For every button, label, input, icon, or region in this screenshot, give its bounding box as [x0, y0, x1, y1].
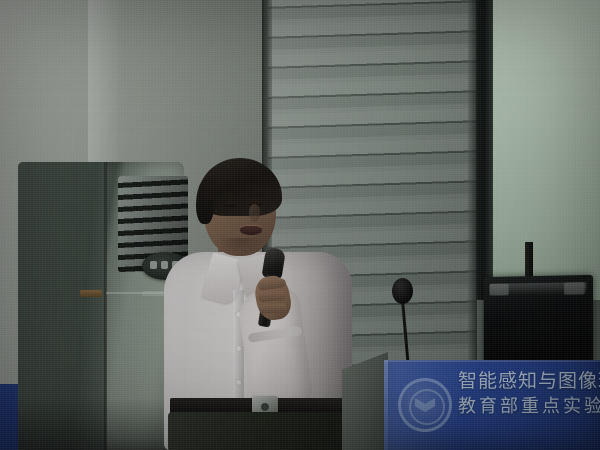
mouth-open-speaking: [240, 226, 262, 235]
banner-line-2: 教育部重点实验: [458, 394, 600, 419]
hair-sideburn: [196, 178, 214, 224]
eyebrow-right: [248, 193, 265, 197]
university-seal-emblem-icon: [398, 378, 452, 432]
monitor-screen: [484, 275, 593, 365]
microphone-gooseneck-stem: [401, 300, 410, 364]
monitor-bezel-segment: [489, 283, 508, 295]
shirt-button: [236, 346, 241, 351]
shirt-button: [236, 380, 241, 385]
right-wall: [492, 0, 600, 300]
ac-panel-indicator: [150, 261, 157, 269]
podium-banner-text: 智能感知与图像理 教育部重点实验: [458, 368, 600, 419]
slat-panel-right-edge: [468, 0, 477, 368]
eye-left: [223, 202, 237, 207]
podium-front-panel: 智能感知与图像理 教育部重点实验: [384, 360, 600, 450]
banner-line-1: 智能感知与图像理: [458, 368, 600, 394]
computer-monitor: [482, 276, 592, 364]
buckle-center: [261, 403, 269, 411]
chin-shadow: [218, 238, 264, 254]
podium-microphone-icon: [392, 278, 432, 364]
podium-microphone-head: [392, 278, 413, 304]
eyebrow-left: [222, 194, 239, 198]
podium-left-edge: [384, 360, 388, 450]
nose: [249, 204, 260, 222]
photo-scene: 智能感知与图像理 教育部重点实验 Speaker presenting at a…: [0, 0, 600, 450]
finger: [259, 303, 288, 314]
ac-door-handle: [80, 290, 102, 297]
monitor-bezel-segment: [564, 282, 585, 295]
trousers: [168, 412, 348, 450]
